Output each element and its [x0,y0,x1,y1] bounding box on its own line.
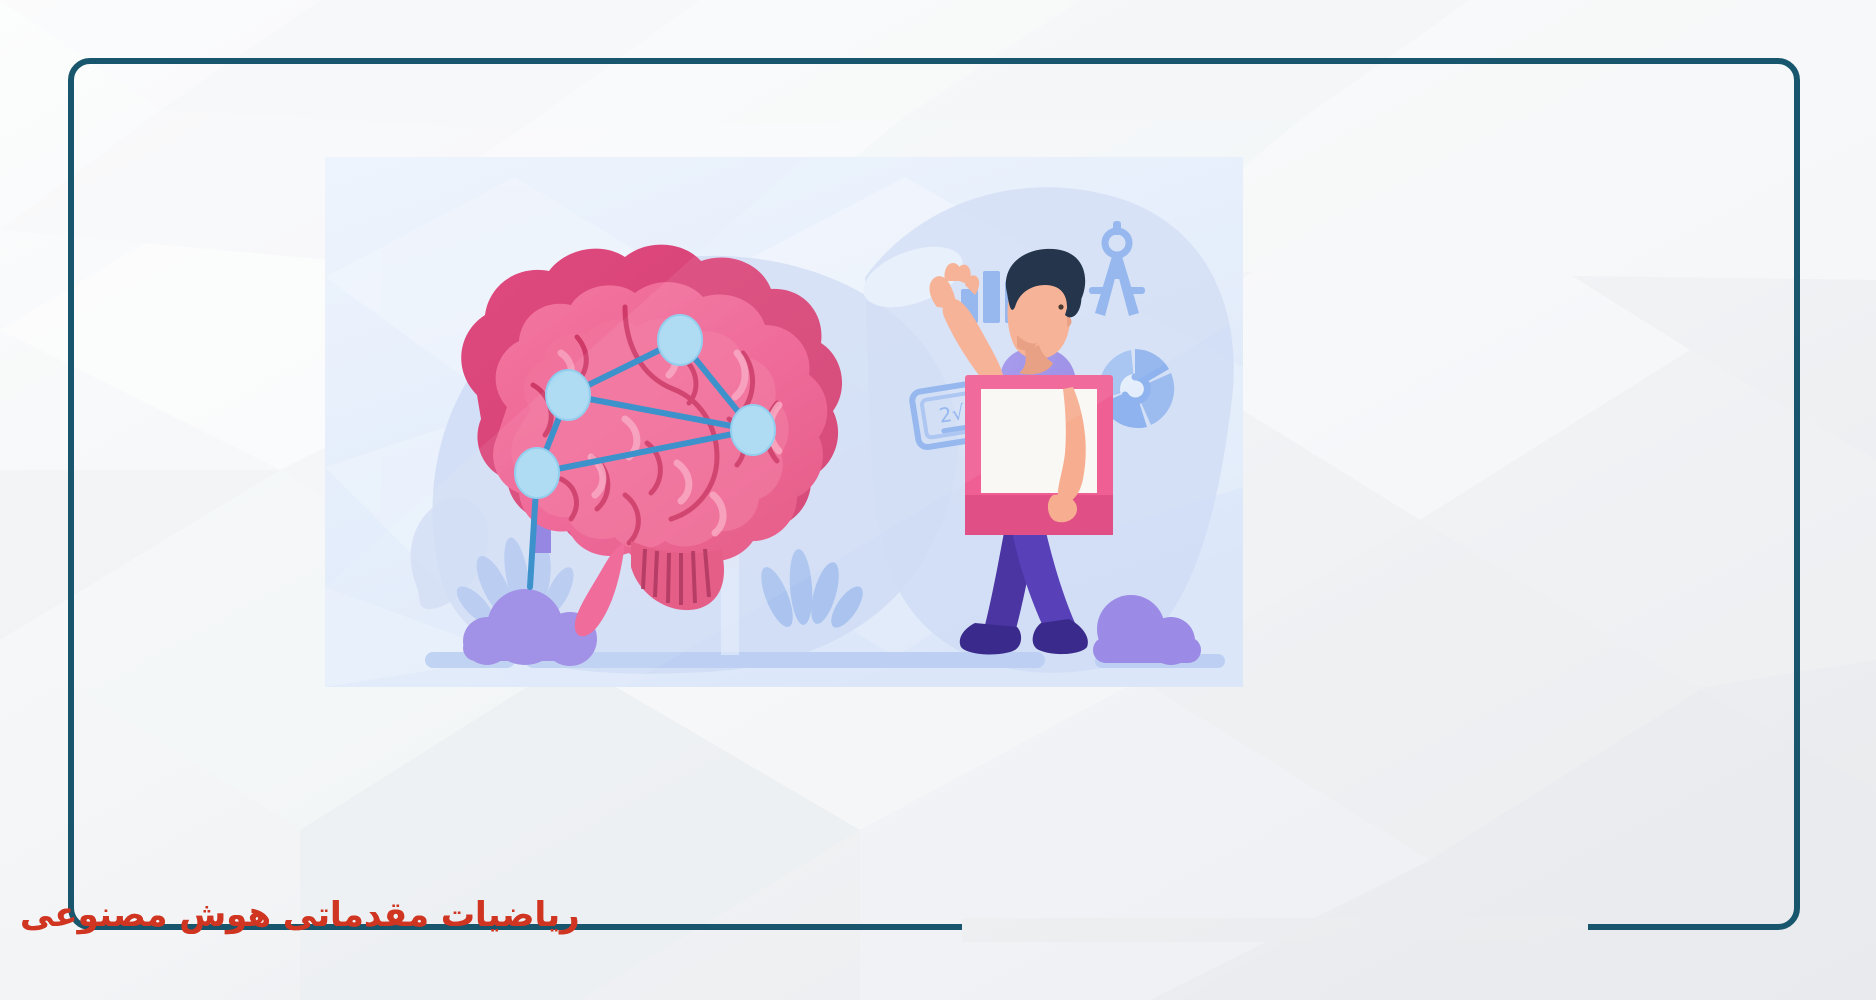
page-title: ریاضیات مقدماتی هوش مصنوعی [0,898,604,932]
person-shoe-back [960,623,1021,654]
banner-stage: √2 [0,0,1876,1000]
illustration-canvas: √2 [325,157,1243,687]
ai-brain-illustration: √2 [325,157,1243,687]
title-row: ریاضیات مقدماتی هوش مصنوعی [0,898,1802,932]
